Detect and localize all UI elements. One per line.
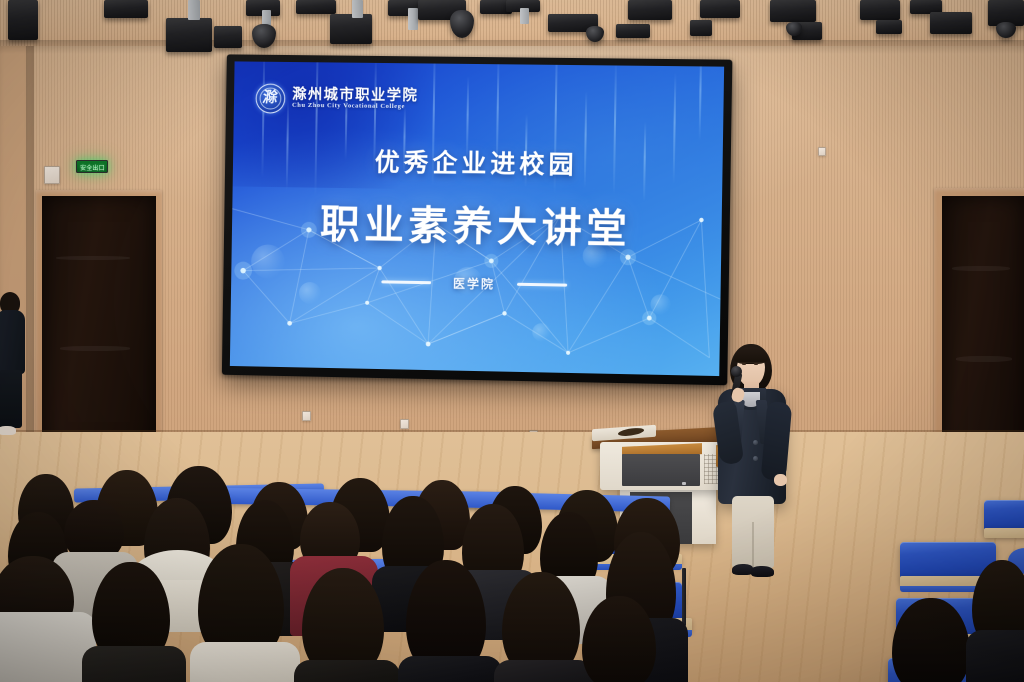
wall-sensor-right [818,147,826,156]
college-emblem-icon: 滁 [255,83,285,113]
coat-button-2 [753,456,758,461]
wall-outlet-2 [400,419,409,429]
standing-bystander [0,292,30,444]
presenter-eye-right [754,363,758,365]
bystander-coat [0,310,25,374]
lecture-hall-photo: 安全出口 [0,0,1024,682]
wall-switch-plate-left[interactable] [44,166,60,184]
college-logo-lockup: 滁 滁州城市职业学院 Chu Zhou City Vocational Coll… [255,83,418,115]
exit-sign-label: 安全出口 [80,162,105,171]
ceiling-shadow [0,40,1024,54]
screen-bezel: 滁 滁州城市职业学院 Chu Zhou City Vocational Coll… [222,54,733,385]
bystander-shoe [0,426,16,435]
presenter-hand-right [774,474,787,486]
college-name-en: Chu Zhou City Vocational College [292,103,418,111]
slide-text-block: 优秀企业进校园 职业素养大讲堂 医学院 [231,149,723,297]
bystander-legs [0,370,22,428]
right-door[interactable] [942,196,1024,462]
subtitle-rule-left [381,281,431,284]
slide-kicker: 优秀企业进校园 [375,151,578,179]
presenter-shoe-right [751,566,774,577]
slide-subtitle-row: 医学院 [381,273,567,293]
exit-sign: 安全出口 [76,160,108,173]
coat-button-1 [753,440,758,445]
emblem-glyph: 滁 [262,91,279,106]
lectern-front-panel [622,454,700,486]
subtitle-rule-right [517,283,567,286]
slide-subtitle: 医学院 [453,275,495,293]
presenter-arm-right [761,401,793,481]
wall-outlet-1 [302,411,311,421]
presentation-screen[interactable]: 滁 滁州城市职业学院 Chu Zhou City Vocational Coll… [222,54,733,385]
slide-title: 职业素养大讲堂 [320,205,632,250]
lectern-cable-grommet [618,427,644,438]
trouser-seam [752,522,754,568]
left-door[interactable] [42,196,156,448]
slide-surface: 滁 滁州城市职业学院 Chu Zhou City Vocational Coll… [230,61,724,376]
lectern-button[interactable] [682,482,686,485]
presenter-eye-left [742,363,746,365]
